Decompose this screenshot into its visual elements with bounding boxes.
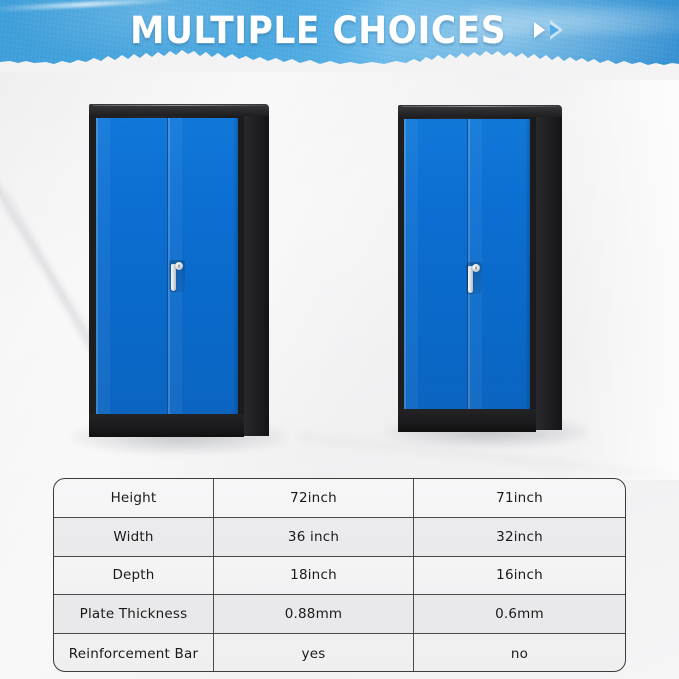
play-triangle-outline-icon [550, 20, 563, 40]
spec-value-product1: 0.88mm [214, 595, 414, 633]
header-banner: MULTIPLE CHOICES [0, 0, 679, 72]
spec-value-product1: 36 inch [214, 518, 414, 556]
table-row: Width 36 inch 32inch [54, 518, 625, 557]
spec-label: Width [54, 518, 214, 556]
door-edge-shadow [233, 118, 238, 414]
spec-value-product2: 0.6mm [414, 595, 625, 633]
cabinet-side-panel [241, 108, 269, 436]
door-edge-shadow [525, 119, 530, 409]
arrow-group [534, 20, 563, 40]
spec-value-product1: 72inch [214, 479, 414, 517]
lock-cylinder-icon [175, 262, 183, 270]
table-row: Height 72inch 71inch [54, 479, 625, 518]
spec-value-product1: yes [214, 634, 414, 672]
torn-paper-edge [0, 48, 679, 72]
table-row: Plate Thickness 0.88mm 0.6mm [54, 595, 625, 634]
product-comparison-image: MULTIPLE CHOICES [0, 0, 679, 679]
spec-value-product2: 71inch [414, 479, 625, 517]
spec-label: Height [54, 479, 214, 517]
page-title: MULTIPLE CHOICES [130, 9, 506, 52]
banner-title-row: MULTIPLE CHOICES [0, 8, 679, 52]
spec-value-product2: no [414, 634, 625, 672]
spec-value-product2: 16inch [414, 557, 625, 595]
play-triangle-filled-icon [534, 22, 545, 38]
cabinet-door-left [96, 118, 167, 414]
spec-value-product1: 18inch [214, 557, 414, 595]
cabinet-top-highlight [93, 105, 265, 106]
spec-label: Reinforcement Bar [54, 634, 214, 672]
cabinet-side-panel [534, 110, 562, 430]
cabinet-door-left [404, 119, 467, 409]
cabinet-top-highlight [402, 106, 558, 107]
cabinet-base [398, 409, 536, 432]
lock-cylinder-icon [472, 264, 480, 272]
table-row: Reinforcement Bar yes no [54, 634, 625, 672]
spec-comparison-table: Height 72inch 71inch Width 36 inch 32inc… [53, 478, 626, 672]
cabinet-base [89, 414, 244, 437]
cabinet-doors [96, 118, 238, 414]
spec-label: Plate Thickness [54, 595, 214, 633]
spec-label: Depth [54, 557, 214, 595]
table-row: Depth 18inch 16inch [54, 557, 625, 596]
spec-value-product2: 32inch [414, 518, 625, 556]
